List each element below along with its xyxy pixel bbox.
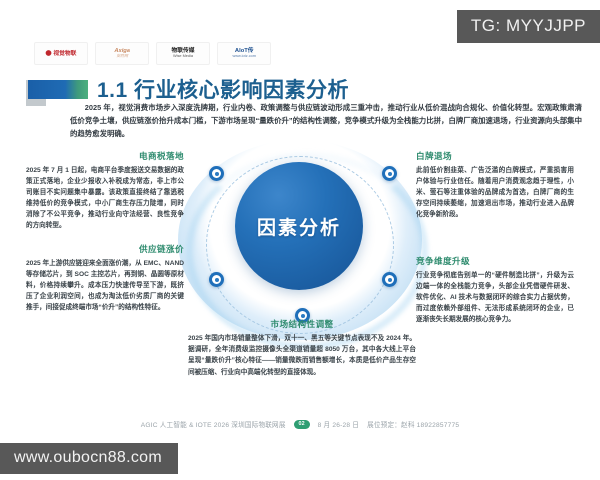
footer-contact: 展位预定：赵科 18922857775 [367, 419, 459, 429]
factor-body: 2025 年国内市场销量整体下滑，双十一、黑五等关键节点表现不及 2024 年。… [188, 333, 416, 378]
site-watermark-badge: www.oubocn88.com [0, 443, 178, 474]
factor-title: 供应链涨价 [26, 243, 184, 255]
footer-date: 8 月 26-28 日 [318, 419, 359, 429]
factor-block-market-structure: 市场结构性调整 2025 年国内市场销量整体下滑，双十一、黑五等关键节点表现不及… [188, 318, 416, 378]
node-bottom-left-icon [209, 272, 224, 287]
logo-axiga: Axiga安防网 [95, 42, 149, 65]
node-top-right-icon [382, 166, 397, 181]
page-title: 1.1 行业核心影响因素分析 [97, 74, 349, 104]
factor-body: 2025 年 7 月 1 日起，电商平台季度报送交易数据的政策正式落地，企业少报… [26, 165, 184, 231]
factor-block-ecommerce-tax: 电商税落地 2025 年 7 月 1 日起，电商平台季度报送交易数据的政策正式落… [26, 150, 184, 231]
factor-body: 行业竞争彻底告别单一的“硬件制造比拼”，升级为云边端一体的全栈能力竞争，头部企业… [416, 270, 574, 325]
logo-sublabel: 安防网 [114, 55, 130, 59]
factor-title: 市场结构性调整 [188, 318, 416, 330]
node-top-left-icon [209, 166, 224, 181]
factor-block-white-label-exit: 白牌退场 此前低价割韭菜、广告泛滥的白牌模式，严重损害用户体验与行业信任。随着用… [416, 150, 574, 220]
factor-block-competition-upgrade: 竞争维度升级 行业竞争彻底告别单一的“硬件制造比拼”，升级为云边端一体的全栈能力… [416, 255, 574, 325]
node-bottom-right-icon [382, 272, 397, 287]
logo-sublabel: www.iotz.com [232, 55, 255, 59]
intro-paragraph: 2025 年，视觉消费市场步入深度洗牌期，行业内卷、政策调整与供应链波动形成三重… [70, 101, 582, 141]
heading-accent-bar [28, 80, 88, 99]
slide-canvas: 视觉物联 Axiga安防网 物联传媒Wise Media AIoT传www.io… [0, 0, 600, 480]
logo-wise-media: 物联传媒Wise Media [156, 42, 210, 65]
sponsor-logo-strip: 视觉物联 Axiga安防网 物联传媒Wise Media AIoT传www.io… [34, 42, 271, 65]
logo-aiot: AIoT传www.iotz.com [217, 42, 271, 65]
slide-footer: AGIC 人工智能 & IOTE 2026 深圳国际物联网展 02 8 月 26… [0, 416, 600, 432]
diagram-core-label: 因素分析 [257, 213, 341, 240]
factor-body: 2025 年上游供应链迎来全面涨价潮，从 EMC、NAND 等存储芯片，到 SO… [26, 258, 184, 313]
factor-title: 白牌退场 [416, 150, 574, 162]
logo-shijue-wulian: 视觉物联 [34, 42, 88, 65]
slide-heading: 1.1 行业核心影响因素分析 [28, 74, 349, 104]
logo-label: 视觉物联 [53, 51, 76, 57]
telegram-watermark-badge: TG: MYYJJPP [457, 10, 600, 43]
footer-page-number: 02 [294, 420, 310, 429]
factor-title: 电商税落地 [26, 150, 184, 162]
logo-sublabel: Wise Media [171, 55, 194, 59]
footer-event: AGIC 人工智能 & IOTE 2026 深圳国际物联网展 [141, 419, 286, 429]
logo-mark-icon [46, 50, 52, 56]
diagram-core-circle: 因素分析 [235, 162, 363, 290]
factor-block-supply-chain-price: 供应链涨价 2025 年上游供应链迎来全面涨价潮，从 EMC、NAND 等存储芯… [26, 243, 184, 313]
factor-body: 此前低价割韭菜、广告泛滥的白牌模式，严重损害用户体验与行业信任。随着用户消费观念… [416, 165, 574, 220]
factor-title: 竞争维度升级 [416, 255, 574, 267]
